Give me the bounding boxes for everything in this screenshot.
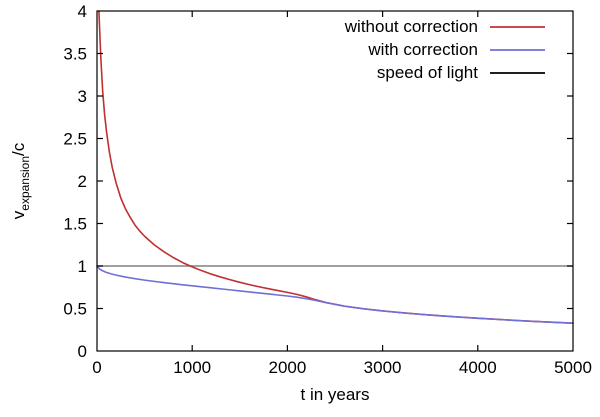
x-tick-label: 4000 (459, 358, 497, 377)
legend-label-2[interactable]: speed of light (377, 63, 478, 82)
y-tick-label: 4 (78, 2, 87, 21)
x-tick-label: 5000 (554, 358, 592, 377)
x-tick-label: 1000 (173, 358, 211, 377)
x-axis-title-group: t in years (301, 385, 370, 404)
y-tick-label: 0 (78, 342, 87, 361)
y-axis-title-subscript: expansion (18, 156, 32, 211)
x-tick-label: 0 (92, 358, 101, 377)
y-tick-label: 1.5 (63, 215, 87, 234)
y-tick-label: 3.5 (63, 45, 87, 64)
y-axis-title-suffix: /c (9, 142, 28, 156)
legend-label-1[interactable]: with correction (367, 40, 478, 59)
x-axis-title: t in years (301, 385, 370, 404)
x-tick-label: 3000 (364, 358, 402, 377)
y-tick-label: 2.5 (63, 130, 87, 149)
x-tick-label: 2000 (268, 358, 306, 377)
y-tick-label: 0.5 (63, 300, 87, 319)
legend-label-0[interactable]: without correction (344, 17, 478, 36)
expansion-velocity-chart: 010002000300040005000 00.511.522.533.54 … (0, 0, 600, 417)
y-tick-label: 1 (78, 257, 87, 276)
y-tick-label: 2 (78, 172, 87, 191)
chart-background (0, 0, 600, 417)
chart-container: 010002000300040005000 00.511.522.533.54 … (0, 0, 600, 417)
y-tick-label: 3 (78, 87, 87, 106)
